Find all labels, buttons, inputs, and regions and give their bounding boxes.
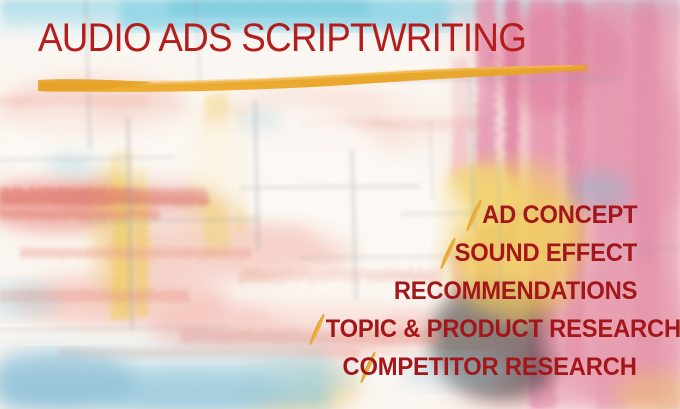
service-item-topic-product-research: TOPIC & PRODUCT RESEARCH — [307, 310, 637, 348]
service-item-recommendations: RECOMMENDATIONS — [307, 272, 637, 310]
service-label: AD CONCEPT — [482, 196, 637, 234]
service-item-sound-effect: SOUND EFFECT — [307, 234, 637, 272]
service-label: RECOMMENDATIONS — [394, 272, 637, 310]
service-item-competitor-research: COMPETITOR RESEARCH — [307, 348, 637, 386]
service-label: SOUND EFFECT — [455, 234, 637, 272]
service-list: AD CONCEPT SOUND EFFECT RECOMMENDATIONS … — [307, 196, 637, 386]
service-label: COMPETITOR RESEARCH — [343, 348, 637, 386]
promo-graphic-canvas: AUDIO ADS SCRIPTWRITING — [0, 0, 680, 409]
service-item-ad-concept: AD CONCEPT — [307, 196, 637, 234]
service-label: TOPIC & PRODUCT RESEARCH — [326, 310, 680, 348]
